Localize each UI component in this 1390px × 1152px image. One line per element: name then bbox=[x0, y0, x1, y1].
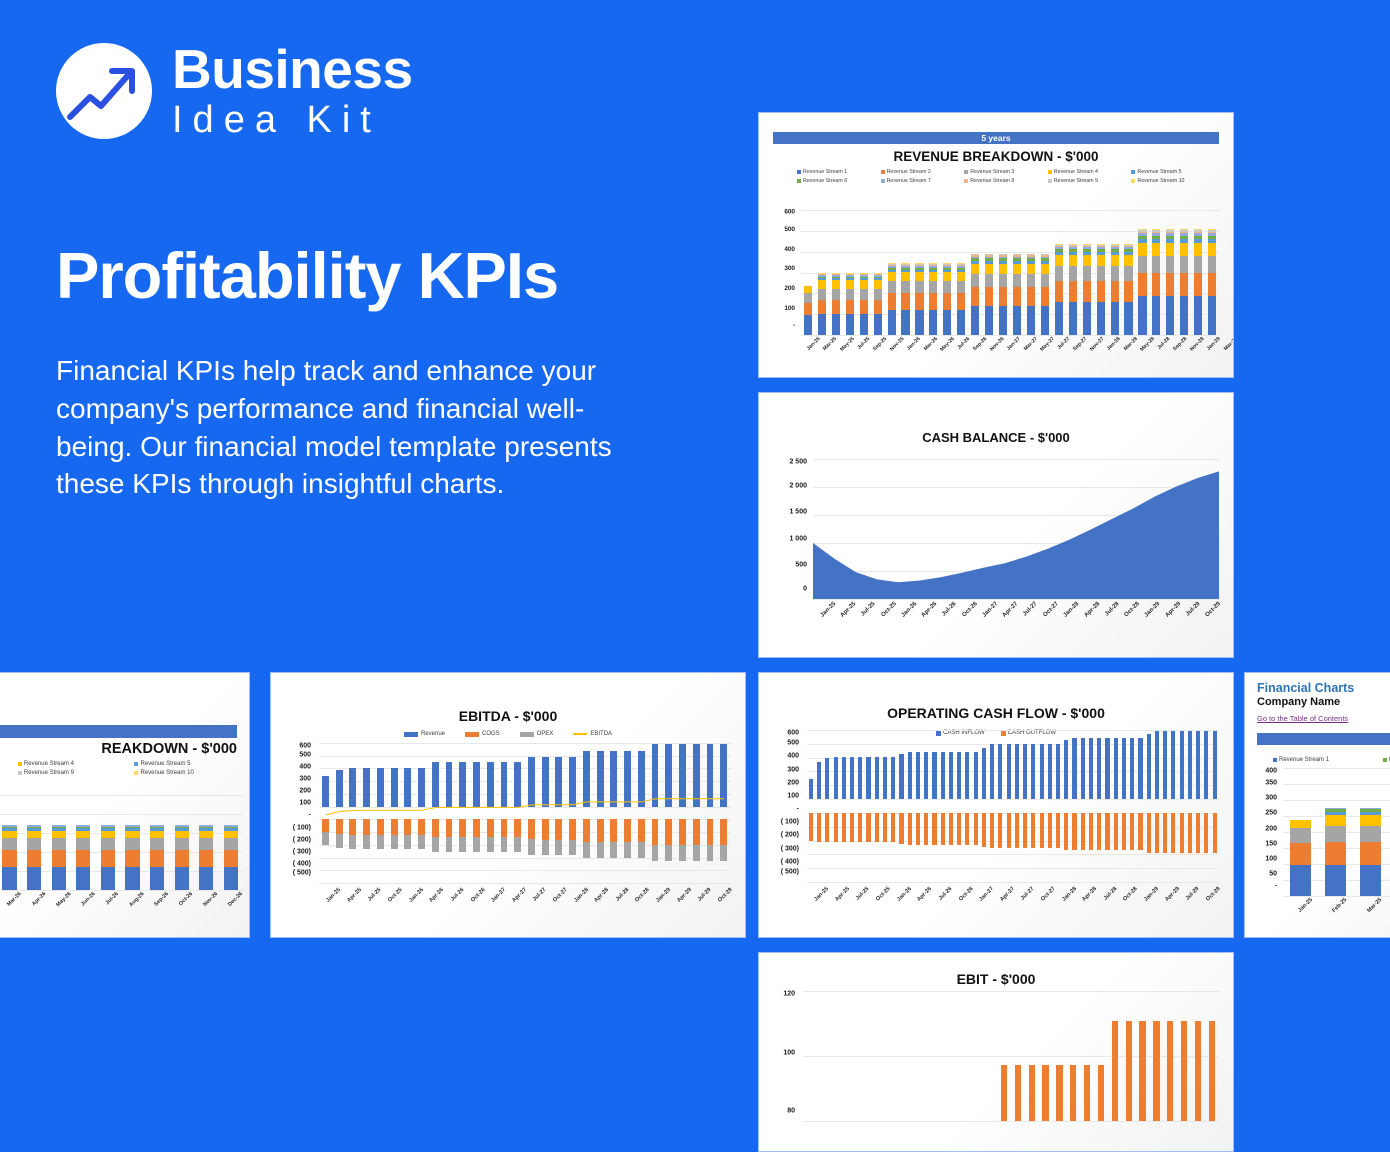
bar-segment bbox=[1124, 302, 1132, 335]
bar-segment bbox=[1290, 843, 1310, 864]
x-axis-tick: Jan-27 bbox=[978, 886, 995, 903]
bar-negative bbox=[899, 813, 903, 844]
x-axis-tick: Apr-28 bbox=[1081, 886, 1098, 903]
bar-segment bbox=[985, 274, 993, 287]
y-axis-tick: 300 bbox=[773, 766, 799, 773]
stacked-bar bbox=[971, 254, 979, 335]
x-axis-tick: Jan-26 bbox=[900, 601, 918, 619]
bar-slot bbox=[1054, 730, 1062, 882]
bar-slot bbox=[1318, 768, 1353, 896]
bar-segment bbox=[943, 272, 951, 281]
legend-swatch-icon bbox=[18, 771, 22, 775]
bar-segment bbox=[1180, 256, 1188, 273]
y-axis-tick: ( 400) bbox=[285, 860, 311, 867]
bar-segment bbox=[1180, 243, 1188, 255]
bar-segment bbox=[874, 300, 882, 315]
legend-label: Revenue Stream 9 bbox=[1054, 178, 1098, 184]
bar-slot bbox=[843, 210, 857, 335]
x-axis-tick: Oct-26 bbox=[961, 601, 978, 618]
y-axis-tick: 300 bbox=[773, 266, 795, 272]
bar-negative bbox=[1064, 813, 1068, 850]
legend-label: Revenue Stream 2 bbox=[887, 169, 931, 175]
x-axis-tick: Apr-26 bbox=[31, 891, 47, 907]
gridline bbox=[807, 882, 1219, 883]
bar-segment bbox=[818, 289, 826, 300]
y-axis-tick: 600 bbox=[773, 729, 799, 736]
stacked-bar bbox=[101, 824, 115, 890]
bar-segment bbox=[901, 281, 909, 293]
stacked-bar bbox=[1208, 229, 1216, 335]
stacked-bar bbox=[1360, 808, 1380, 896]
ebit-bar bbox=[1070, 1065, 1076, 1121]
y-axis-tick: 1 000 bbox=[775, 535, 807, 542]
bar-segment bbox=[1194, 273, 1202, 297]
bar-segment bbox=[832, 314, 840, 335]
stacked-bar bbox=[1069, 244, 1077, 335]
y-axis-tick: ( 500) bbox=[285, 870, 311, 877]
stacked-bar bbox=[1097, 244, 1105, 335]
legend-item: EBITDA bbox=[573, 731, 612, 737]
bar-segment bbox=[52, 838, 66, 850]
y-axis-tick: 120 bbox=[773, 990, 795, 997]
stacked-bar bbox=[1041, 254, 1049, 335]
bar-slot bbox=[1066, 991, 1080, 1121]
bar-segment bbox=[1194, 256, 1202, 273]
bar-positive bbox=[1081, 738, 1085, 799]
ebit-bar bbox=[1042, 1065, 1048, 1121]
bar-positive bbox=[1213, 731, 1217, 799]
y-axis-tick: 150 bbox=[1255, 840, 1277, 847]
bar-positive bbox=[1097, 738, 1101, 799]
y-axis-tick: - bbox=[773, 806, 799, 813]
bar-series bbox=[319, 743, 731, 883]
bar-segment bbox=[915, 281, 923, 293]
x-axis-tick-slot: Jul-28 bbox=[607, 887, 628, 893]
x-axis-tick: Jan-28 bbox=[1061, 886, 1078, 903]
stacked-bar bbox=[1290, 820, 1310, 896]
y-axis: 600500400300200100- bbox=[773, 210, 795, 335]
bar-segment bbox=[1194, 243, 1202, 255]
legend-swatch-icon bbox=[465, 732, 479, 737]
x-axis-tick: Nov-26 bbox=[989, 336, 1005, 352]
bar-slot bbox=[1149, 991, 1163, 1121]
ebit-bar bbox=[1209, 1021, 1215, 1121]
bar-segment bbox=[846, 300, 854, 315]
bar-segment bbox=[804, 293, 812, 302]
x-axis-tick: Mar-29 bbox=[1223, 336, 1234, 352]
legend-item: Revenue Stream 6 bbox=[1383, 757, 1390, 763]
bar-segment bbox=[888, 293, 896, 310]
bar-positive bbox=[866, 757, 870, 799]
x-axis-tick: Mar-26 bbox=[6, 891, 23, 908]
bar-slot bbox=[1071, 730, 1079, 882]
bar-segment bbox=[1360, 865, 1380, 896]
x-axis-tick-slot: Jul-25 bbox=[360, 887, 381, 893]
bar-negative bbox=[1023, 813, 1027, 848]
bar-slot bbox=[840, 730, 848, 882]
x-axis-tick: May-28 bbox=[1140, 336, 1157, 353]
bar-segment bbox=[1152, 256, 1160, 273]
y-axis-tick: 400 bbox=[285, 764, 311, 771]
table-of-contents-link[interactable]: Go to the Table of Contents bbox=[1257, 714, 1348, 723]
bar-slot bbox=[942, 991, 956, 1121]
legend-swatch-icon bbox=[134, 762, 138, 766]
x-axis-tick: Jul-26 bbox=[938, 886, 954, 902]
plot-area: 2 5002 0001 5001 0005000 Jan-25Apr-25Jul… bbox=[775, 459, 1219, 599]
bar-segment bbox=[1041, 287, 1049, 306]
stacked-bar bbox=[1180, 229, 1188, 335]
x-axis-tick-slot: Jan-28 bbox=[566, 887, 587, 893]
bar-positive bbox=[908, 752, 912, 799]
bar-negative bbox=[842, 813, 846, 842]
x-axis-tick: Apr-28 bbox=[1083, 601, 1101, 619]
bar-slot bbox=[845, 991, 859, 1121]
bar-segment bbox=[1152, 296, 1160, 335]
x-axis-tick-slot: Feb-25 bbox=[1318, 897, 1353, 903]
legend-item: Revenue Stream 8 bbox=[0, 770, 12, 776]
bar-slot bbox=[1205, 210, 1219, 335]
bar-negative bbox=[1180, 813, 1184, 853]
bar-slot bbox=[1094, 991, 1108, 1121]
bar-slot bbox=[972, 730, 980, 882]
bar-segment bbox=[1069, 302, 1077, 335]
bar-negative bbox=[1105, 813, 1109, 851]
company-name: Company Name bbox=[1257, 696, 1390, 708]
x-axis-tick: Jul-25 bbox=[367, 887, 383, 903]
legend-label: Revenue Stream 5 bbox=[1137, 169, 1181, 175]
x-axis-tick: Mar-26 bbox=[922, 336, 938, 352]
x-axis-tick: Jan-25 bbox=[814, 886, 831, 903]
legend-label: Revenue Stream 1 bbox=[803, 169, 847, 175]
bar-slot bbox=[1120, 730, 1128, 882]
bar-negative bbox=[965, 813, 969, 845]
legend-swatch-icon bbox=[881, 179, 885, 183]
x-axis-tick-slot: Jan-25 bbox=[813, 601, 833, 607]
x-axis-tick: Apr-27 bbox=[511, 887, 528, 904]
legend-item: OPEX bbox=[520, 731, 554, 737]
card-ebitda[interactable]: EBITDA - $'000 RevenueCOGSOPEXEBITDA 600… bbox=[270, 672, 746, 938]
ebitda-line bbox=[319, 743, 731, 883]
bar-slot bbox=[817, 991, 831, 1121]
bar-positive bbox=[1138, 738, 1142, 799]
x-axis: Jan-25Mar-25May-25Jul-25Sep-25Nov-25Jan-… bbox=[801, 336, 1219, 342]
bar-segment bbox=[1180, 296, 1188, 335]
bar-segment bbox=[929, 293, 937, 310]
bar-segment bbox=[860, 280, 868, 288]
x-axis-tick-slot: Apr-29 bbox=[669, 887, 690, 893]
legend-swatch-icon bbox=[1383, 758, 1387, 762]
bar-segment bbox=[874, 280, 882, 288]
bar-slot bbox=[928, 991, 942, 1121]
bar-slot bbox=[1046, 730, 1054, 882]
legend-item: Revenue Stream 6 bbox=[787, 178, 871, 184]
x-axis-tick: Apr-26 bbox=[921, 601, 939, 619]
bar-negative bbox=[990, 813, 994, 848]
x-axis-tick: Jul-26 bbox=[941, 601, 958, 618]
bar-segment bbox=[1325, 815, 1345, 826]
bar-slot bbox=[881, 730, 889, 882]
ebit-bar bbox=[1029, 1065, 1035, 1121]
bar-positive bbox=[1188, 731, 1192, 799]
bar-negative bbox=[1097, 813, 1101, 851]
legend-item: Revenue Stream 3 bbox=[0, 761, 12, 767]
x-axis-tick: Aug-26 bbox=[129, 891, 146, 908]
bar-slot bbox=[1024, 210, 1038, 335]
bar-segment bbox=[1027, 264, 1035, 274]
bar-segment bbox=[27, 850, 41, 867]
stacked-bar bbox=[985, 254, 993, 335]
x-axis-tick-slot: Oct-27 bbox=[546, 887, 567, 893]
bar-segment bbox=[1055, 255, 1063, 266]
x-axis-tick-slot: Apr-27 bbox=[992, 886, 1013, 892]
y-axis-tick: 1 500 bbox=[775, 509, 807, 516]
bar-positive bbox=[1072, 738, 1076, 799]
bar-negative bbox=[1114, 813, 1118, 851]
bar-segment bbox=[943, 281, 951, 293]
card-financial-charts[interactable]: Financial Charts Company Name Go to the … bbox=[1244, 672, 1390, 938]
bar-segment bbox=[1041, 306, 1049, 335]
bar-slot bbox=[1062, 730, 1070, 882]
x-axis-tick-slot: Apr-26 bbox=[422, 887, 443, 893]
bar-segment bbox=[1027, 274, 1035, 287]
bar-slot bbox=[1095, 730, 1103, 882]
bar-segment bbox=[999, 274, 1007, 287]
bar-slot bbox=[1170, 730, 1178, 882]
x-axis-tick-slot: Dec-26 bbox=[219, 891, 244, 897]
brand-logo: Business Idea Kit bbox=[56, 42, 413, 139]
y-axis: 2 5002 0001 5001 0005000 bbox=[775, 459, 807, 599]
gridline bbox=[803, 1121, 1219, 1122]
bar-positive bbox=[1048, 744, 1052, 799]
bar-segment bbox=[804, 303, 812, 315]
bar-negative bbox=[809, 813, 813, 841]
stacked-bar bbox=[199, 824, 213, 890]
chart-title-revenue-breakdown-cropped: REAKDOWN - $'000 bbox=[0, 741, 249, 757]
x-axis-tick: Apr-28 bbox=[593, 887, 610, 904]
legend-item: Revenue Stream 1 bbox=[787, 169, 871, 175]
x-axis-tick: Mar-27 bbox=[1023, 336, 1039, 352]
x-axis-tick-slot: Jul-26 bbox=[96, 891, 121, 897]
stacked-bar bbox=[52, 824, 66, 890]
bar-slot bbox=[1153, 730, 1161, 882]
chart-title-operating-cash-flow: OPERATING CASH FLOW - $'000 bbox=[759, 705, 1233, 721]
x-axis-tick-slot: Oct-25 bbox=[381, 887, 402, 893]
bar-positive bbox=[1040, 744, 1044, 799]
stacked-bar bbox=[804, 286, 812, 335]
x-axis-tick-slot: Oct-25 bbox=[874, 601, 894, 607]
bar-positive bbox=[1007, 744, 1011, 799]
y-axis-tick: - bbox=[773, 323, 795, 329]
stacked-bar bbox=[1152, 229, 1160, 335]
bar-segment bbox=[175, 838, 189, 850]
x-axis-tick: Oct-27 bbox=[1040, 886, 1057, 903]
legend-label: Revenue bbox=[421, 731, 445, 737]
legend-swatch-icon bbox=[964, 179, 968, 183]
bar-segment bbox=[1194, 296, 1202, 335]
card-cash-balance[interactable]: CASH BALANCE - $'000 2 5002 0001 5001 00… bbox=[758, 392, 1234, 658]
legend-swatch-icon bbox=[881, 170, 885, 174]
stacked-bar bbox=[860, 273, 868, 335]
bar-positive bbox=[1064, 740, 1068, 799]
card-revenue-breakdown-5y[interactable]: 5 years REVENUE BREAKDOWN - $'000 Revenu… bbox=[758, 112, 1234, 378]
y-axis-tick: ( 100) bbox=[773, 819, 799, 826]
bar-segment bbox=[2, 850, 16, 867]
legend-swatch-icon bbox=[1131, 170, 1135, 174]
legend-item: Revenue Stream 5 bbox=[128, 761, 245, 767]
bar-slot bbox=[1122, 991, 1136, 1121]
x-axis: Jan-25Apr-25Jul-25Oct-25Jan-26Apr-26Jul-… bbox=[319, 887, 731, 893]
bar-segment bbox=[832, 300, 840, 315]
plot-area: 600500400300200100-( 100)( 200)( 300)( 4… bbox=[773, 730, 1219, 882]
x-axis-tick: Jan-28 bbox=[1106, 336, 1122, 352]
bar-slot bbox=[848, 730, 856, 882]
card-operating-cash-flow[interactable]: OPERATING CASH FLOW - $'000 CASH INFLOWC… bbox=[758, 672, 1234, 938]
card-ebit[interactable]: EBIT - $'000 12010080 bbox=[758, 952, 1234, 1152]
x-axis-tick-slot: Mar-26 bbox=[0, 891, 22, 897]
bar-negative bbox=[1089, 813, 1093, 851]
bar-positive bbox=[1204, 731, 1208, 799]
bar-segment bbox=[1180, 273, 1188, 297]
x-axis-tick-slot: Jan-25 bbox=[807, 886, 828, 892]
plot-area: 40035030025020015010050- Jan-25Feb-25Mar… bbox=[1255, 768, 1390, 896]
x-axis-tick-slot: Jul-25 bbox=[848, 886, 869, 892]
bar-segment bbox=[125, 831, 139, 839]
x-axis-tick-slot: Jul-29 bbox=[690, 887, 711, 893]
bar-segment bbox=[76, 850, 90, 867]
period-band bbox=[1257, 733, 1390, 745]
bar-segment bbox=[1325, 842, 1345, 865]
bar-segment bbox=[1055, 281, 1063, 302]
x-axis-tick: Mar-25 bbox=[822, 336, 838, 352]
y-axis-tick: 2 500 bbox=[775, 458, 807, 465]
y-axis-tick: 400 bbox=[773, 753, 799, 760]
stacked-bar bbox=[1138, 229, 1146, 335]
x-axis-tick: May-26 bbox=[939, 336, 956, 353]
y-axis-tick: 300 bbox=[1255, 795, 1277, 802]
y-axis-tick: 350 bbox=[1255, 780, 1277, 787]
bar-segment bbox=[52, 850, 66, 867]
ebit-bar bbox=[1084, 1065, 1090, 1121]
x-axis-tick: Apr-29 bbox=[1164, 886, 1181, 903]
bar-slot bbox=[120, 795, 145, 890]
x-axis-tick: Jan-29 bbox=[655, 887, 672, 904]
bar-slot bbox=[1087, 730, 1095, 882]
bar-positive bbox=[1056, 744, 1060, 799]
ebit-bar bbox=[1195, 1021, 1201, 1121]
bar-slot bbox=[954, 210, 968, 335]
bar-slot bbox=[856, 730, 864, 882]
bar-slot bbox=[1161, 730, 1169, 882]
bar-segment bbox=[199, 838, 213, 850]
plot-area: 600500400300200100- Jan-25Mar-25May-25Ju… bbox=[773, 210, 1219, 335]
bar-segment bbox=[943, 310, 951, 335]
bar-segment bbox=[175, 831, 189, 839]
bar-segment bbox=[985, 306, 993, 335]
x-axis-tick-slot: Jul-29 bbox=[1178, 886, 1199, 892]
bar-segment bbox=[1124, 266, 1132, 281]
bar-segment bbox=[27, 838, 41, 850]
bar-segment bbox=[125, 838, 139, 850]
y-axis-tick: ( 400) bbox=[773, 858, 799, 865]
x-axis-tick: Jul-25 bbox=[855, 886, 871, 902]
x-axis-tick-slot: Apr-29 bbox=[1157, 886, 1178, 892]
y-axis-tick: 500 bbox=[773, 740, 799, 747]
bar-segment bbox=[985, 287, 993, 306]
bar-negative bbox=[875, 813, 879, 842]
stacked-bar bbox=[1055, 244, 1063, 335]
y-axis-tick: 100 bbox=[773, 792, 799, 799]
plot-area: 12010080 bbox=[773, 991, 1219, 1121]
bar-segment bbox=[1325, 826, 1345, 842]
x-axis-tick: Jul-28 bbox=[1102, 886, 1118, 902]
ebit-bar bbox=[1015, 1065, 1021, 1121]
x-axis-tick: Apr-27 bbox=[999, 886, 1016, 903]
legend-item: Revenue Stream 8 bbox=[954, 178, 1038, 184]
chart-legend: Revenue Stream 1Revenue Stream 6 bbox=[1245, 757, 1390, 763]
bar-slot bbox=[873, 730, 881, 882]
x-axis-tick-slot: Aug-26 bbox=[120, 891, 145, 897]
bar-slot bbox=[1080, 210, 1094, 335]
bar-slot bbox=[807, 730, 815, 882]
y-axis-tick: 100 bbox=[773, 1049, 795, 1056]
bar-negative bbox=[1163, 813, 1167, 853]
bar-slot bbox=[871, 210, 885, 335]
y-axis-tick: 2 000 bbox=[775, 482, 807, 489]
ebit-bar bbox=[1181, 1021, 1187, 1121]
bar-negative bbox=[1015, 813, 1019, 848]
y-axis-tick: 100 bbox=[773, 306, 795, 312]
x-axis-tick: May-25 bbox=[839, 336, 856, 353]
x-axis-tick-slot: Oct-26 bbox=[169, 891, 194, 897]
x-axis-tick: Oct-25 bbox=[875, 886, 892, 903]
bar-negative bbox=[932, 813, 936, 845]
period-band-5-years: 5 years bbox=[773, 132, 1219, 144]
x-axis-tick-slot: Jul-27 bbox=[525, 887, 546, 893]
x-axis-tick-slot: Jul-26 bbox=[931, 886, 952, 892]
stacked-bar bbox=[846, 273, 854, 335]
x-axis-tick-slot: Oct-27 bbox=[1034, 886, 1055, 892]
legend-label: Revenue Stream 8 bbox=[970, 178, 1014, 184]
x-axis-tick: Oct-27 bbox=[552, 887, 569, 904]
bar-segment bbox=[804, 315, 812, 335]
chart-title-revenue-breakdown: REVENUE BREAKDOWN - $'000 bbox=[759, 149, 1233, 164]
x-axis-tick: Oct-29 bbox=[717, 887, 734, 904]
bar-slot bbox=[968, 210, 982, 335]
legend-swatch-icon bbox=[1048, 179, 1052, 183]
bar-segment bbox=[1138, 273, 1146, 297]
card-revenue-breakdown-24m[interactable]: 24 months REAKDOWN - $'000 Revenue Strea… bbox=[0, 672, 250, 938]
x-axis-tick: Apr-25 bbox=[840, 601, 858, 619]
bar-slot bbox=[801, 210, 815, 335]
bar-negative bbox=[1007, 813, 1011, 848]
chart-legend: RevenueCOGSOPEXEBITDA bbox=[271, 731, 745, 737]
bar-slot bbox=[1137, 730, 1145, 882]
stacked-bar bbox=[957, 263, 965, 335]
ebit-bar bbox=[1112, 1021, 1118, 1121]
bar-positive bbox=[974, 752, 978, 799]
bar-negative bbox=[1081, 813, 1085, 851]
x-axis-tick: Jan-29 bbox=[1206, 336, 1222, 352]
bar-segment bbox=[224, 867, 238, 890]
x-axis-tick: Oct-25 bbox=[387, 887, 404, 904]
bar-segment bbox=[846, 289, 854, 300]
legend-label: COGS bbox=[482, 731, 500, 737]
x-axis-tick: Jan-26 bbox=[408, 887, 425, 904]
ebit-bar bbox=[1001, 1065, 1007, 1121]
x-axis-tick-slot: Jan-26 bbox=[889, 886, 910, 892]
bar-slot bbox=[815, 730, 823, 882]
bar-segment bbox=[901, 310, 909, 335]
